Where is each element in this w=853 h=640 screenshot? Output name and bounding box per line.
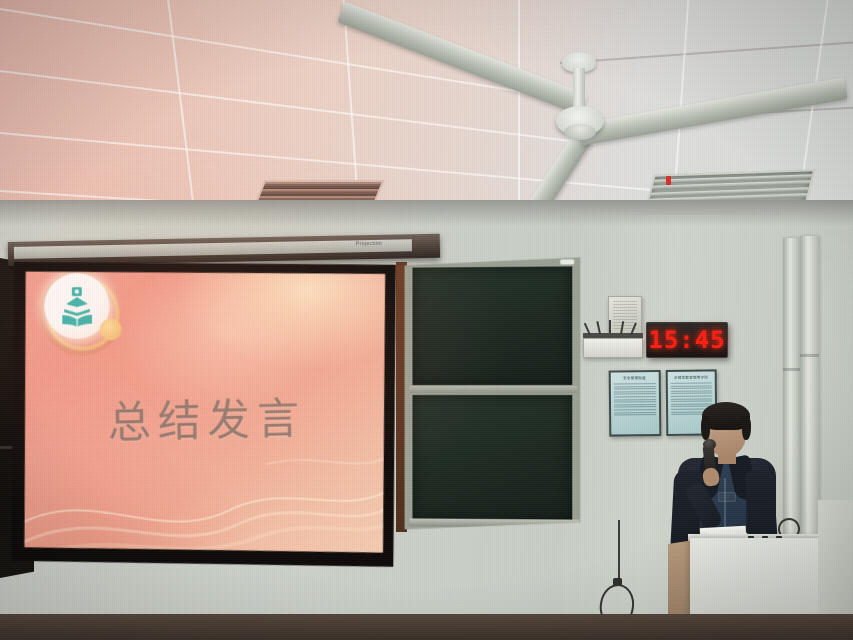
clock-time: 15:45 <box>648 326 725 354</box>
screen-housing-face <box>14 239 412 259</box>
chalkboard-panel-lower <box>412 395 572 520</box>
hanging-cable <box>618 520 620 580</box>
notice-board: 安全管理制度 <box>609 370 661 437</box>
floor <box>0 614 853 640</box>
emblem-accent-dot <box>100 318 122 340</box>
notice-text-lines <box>614 383 656 416</box>
notice-title: 安全管理制度 <box>614 376 656 381</box>
chalk-piece <box>560 259 574 264</box>
chalkboard <box>405 257 581 530</box>
presenter-hair-side <box>701 416 710 440</box>
wall-speaker <box>608 296 642 334</box>
projection-screen: 总结发言 <box>8 258 399 580</box>
slide-title: 总结发言 <box>21 382 388 453</box>
chalkboard-panel-upper <box>412 266 572 385</box>
presentation-slide: 总结发言 <box>20 266 389 568</box>
emblem-book-icon <box>58 285 96 327</box>
notice-title: 多媒体教室使用守则 <box>670 375 712 380</box>
antenna-icon <box>609 320 611 333</box>
fan-hub-cap <box>564 124 596 140</box>
wall-ceiling-shadow <box>0 200 853 226</box>
ceiling-fan <box>440 44 770 204</box>
screen-brand-label: Projection <box>356 241 382 248</box>
microphone-head <box>703 439 716 450</box>
digital-wall-clock: 15:45 <box>646 322 728 358</box>
classroom-photo: Projection <box>0 0 853 640</box>
school-emblem <box>42 273 120 352</box>
wireless-amplifier[interactable] <box>583 338 643 358</box>
presenter-hair-side <box>742 416 751 440</box>
chalkboard-rail <box>410 386 578 393</box>
